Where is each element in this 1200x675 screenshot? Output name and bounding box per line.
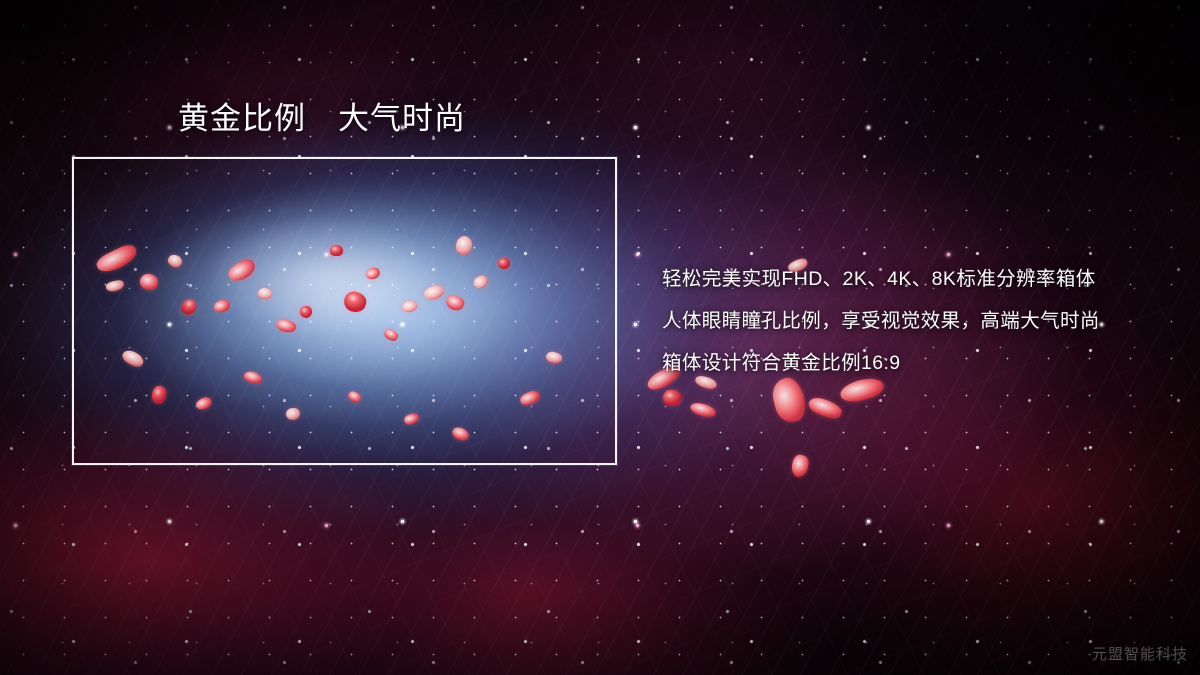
petal <box>790 454 810 479</box>
petal <box>139 273 160 292</box>
petal <box>472 273 490 290</box>
presentation-slide: 黄金比例 大气时尚 轻松完美实现FHD、2K、4K、8K标准分辨率箱体 人体眼睛… <box>0 0 1200 675</box>
body-line-1: 轻松完美实现FHD、2K、4K、8K标准分辨率箱体 <box>662 258 1172 300</box>
frame-nebula-core <box>72 157 617 465</box>
petal <box>94 242 140 277</box>
petal <box>545 350 563 364</box>
frame-starfield-small <box>72 157 617 465</box>
slide-body-text: 轻松完美实现FHD、2K、4K、8K标准分辨率箱体 人体眼睛瞳孔比例，享受视觉效… <box>662 258 1172 384</box>
petal <box>403 412 420 426</box>
petal <box>213 298 232 314</box>
petal <box>423 283 446 301</box>
petal <box>166 253 184 270</box>
petal <box>346 389 362 404</box>
petal <box>150 385 168 406</box>
falling-petals-framed <box>72 157 617 465</box>
petal <box>444 293 466 313</box>
body-line-3: 箱体设计符合黄金比例16:9 <box>662 342 1172 384</box>
petal <box>243 369 264 385</box>
petal <box>194 395 213 412</box>
petal <box>662 389 682 407</box>
petal <box>226 256 259 285</box>
petal <box>498 258 510 269</box>
petal <box>120 348 146 370</box>
slide-title: 黄金比例 大气时尚 <box>178 101 466 138</box>
petal <box>178 296 199 317</box>
frame-nebula-wisps <box>72 157 617 465</box>
petal <box>257 287 272 300</box>
petal <box>365 266 382 281</box>
frame-vignette <box>72 157 617 465</box>
petal <box>518 389 541 408</box>
company-watermark: 元盟智能科技 <box>1092 643 1188 664</box>
petal <box>300 306 312 318</box>
petal <box>454 235 473 256</box>
petal <box>806 395 843 422</box>
golden-ratio-image-frame <box>72 157 617 465</box>
petal <box>275 318 297 334</box>
petal <box>382 327 399 343</box>
petal <box>285 407 301 421</box>
frame-starfield-bright <box>72 157 617 465</box>
frame-nebula-content <box>72 157 617 465</box>
body-line-2: 人体眼睛瞳孔比例，享受视觉效果，高端大气时尚 <box>662 300 1172 342</box>
petal <box>689 401 717 420</box>
frame-starfield-mid <box>72 157 617 465</box>
petal <box>330 245 343 256</box>
petal <box>401 300 418 313</box>
petal <box>341 289 368 315</box>
petal <box>450 425 470 443</box>
frame-nebula-base <box>72 157 617 465</box>
petal <box>105 279 125 293</box>
